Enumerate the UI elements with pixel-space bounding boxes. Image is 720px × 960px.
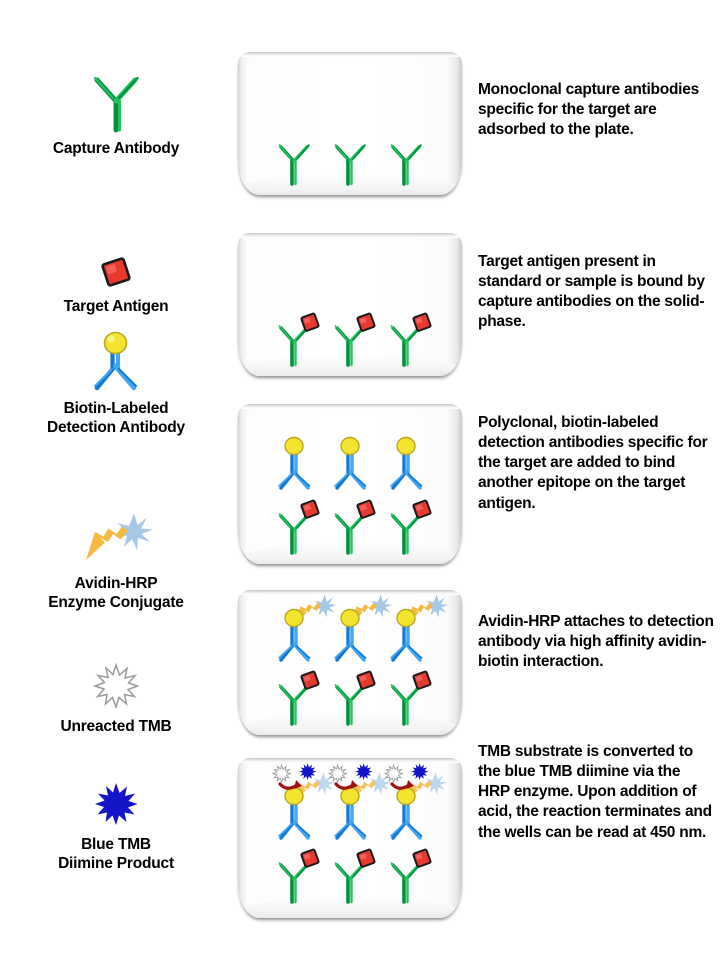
tmb-conversion-group	[273, 763, 428, 789]
antigen-square-red-icon	[301, 500, 431, 518]
step-description-3: Polyclonal, biotin-labeled detection ant…	[478, 413, 716, 514]
legend-item-unreacted-tmb: Unreacted TMB	[0, 648, 232, 736]
well-contents-step-5	[238, 758, 462, 918]
well-step-1	[238, 52, 462, 195]
antigen-square-red-icon	[301, 671, 431, 689]
legend-label-blue-tmb: Blue TMB Diimine Product	[0, 835, 232, 873]
well-contents-step-4	[238, 590, 462, 735]
legend-item-avidin-hrp: Avidin-HRP Enzyme Conjugate	[0, 505, 232, 612]
well-contents-step-1	[238, 52, 462, 195]
step-description-1: Monoclonal capture antibodies specific f…	[478, 80, 716, 140]
step-description-2: Target antigen present in standard or sa…	[478, 252, 716, 333]
well-step-2	[238, 233, 462, 376]
well-step-5	[238, 758, 462, 918]
legend-label-unreacted-tmb: Unreacted TMB	[0, 717, 232, 736]
microplate-well	[238, 233, 462, 376]
legend-item-detection-antibody: Biotin-Labeled Detection Antibody	[0, 330, 232, 437]
legend-label-avidin-hrp: Avidin-HRP Enzyme Conjugate	[0, 574, 232, 612]
starburst-blue-icon	[0, 766, 232, 828]
avidin-hrp-conjugate-icon	[295, 772, 447, 800]
well-contents-step-3	[238, 404, 462, 564]
legend-item-target-antigen: Target Antigen	[0, 228, 232, 316]
antigen-square-red-icon	[0, 228, 232, 290]
biotin-label-icon	[285, 438, 415, 455]
microplate-well	[238, 758, 462, 918]
well-step-3	[238, 404, 462, 564]
elisa-diagram: Capture Antibody Target Antigen	[0, 0, 720, 960]
well-step-4	[238, 590, 462, 735]
legend-item-blue-tmb: Blue TMB Diimine Product	[0, 766, 232, 873]
starburst-outline-icon	[0, 648, 232, 710]
antigen-square-red-icon	[301, 313, 431, 331]
legend-label-target-antigen: Target Antigen	[0, 297, 232, 316]
microplate-well	[238, 404, 462, 564]
legend-label-detection-antibody: Biotin-Labeled Detection Antibody	[0, 399, 232, 437]
microplate-well	[238, 52, 462, 195]
legend-item-capture-antibody: Capture Antibody	[0, 70, 232, 158]
antibody-y-green-icon	[0, 70, 232, 132]
well-contents-step-2	[238, 233, 462, 376]
step-description-5: TMB substrate is converted to the blue T…	[478, 742, 716, 843]
antibody-y-blue-biotin-icon	[0, 330, 232, 392]
antigen-square-red-icon	[301, 849, 431, 867]
microplate-well	[238, 590, 462, 735]
avidin-hrp-conjugate-icon	[295, 594, 449, 623]
avidin-hrp-conjugate-icon	[0, 505, 232, 567]
step-description-4: Avidin-HRP attaches to detection antibod…	[478, 612, 716, 672]
legend-label-capture-antibody: Capture Antibody	[0, 139, 232, 158]
